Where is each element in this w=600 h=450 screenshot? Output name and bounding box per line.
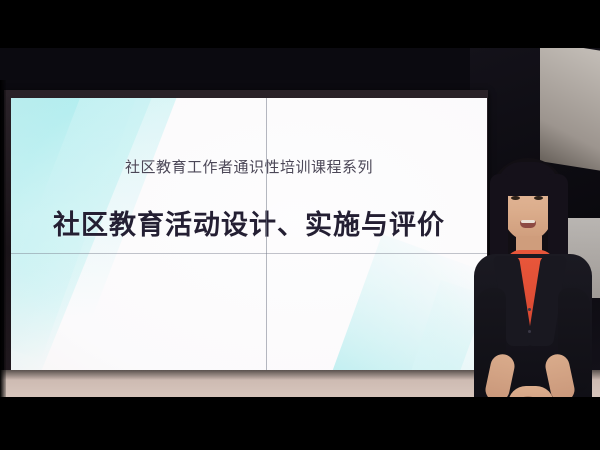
letterbox-top	[0, 0, 600, 48]
display-panel-seam-horizontal	[11, 253, 487, 254]
video-frame: 社区教育工作者通识性培训课程系列 社区教育活动设计、实施与评价	[0, 0, 600, 450]
back-wall-panel-upper	[540, 41, 600, 171]
presenter-jacket-button-upper	[528, 308, 531, 311]
letterbox-bottom	[0, 397, 600, 450]
presenter-eye-left	[511, 196, 520, 200]
presenter-eye-right	[534, 196, 543, 200]
display-panel-seam-vertical	[266, 98, 267, 398]
presenter-teeth	[521, 220, 535, 223]
slide-title: 社区教育活动设计、实施与评价	[53, 203, 445, 242]
slide-subtitle: 社区教育工作者通识性培训课程系列	[125, 156, 373, 177]
projection-screen-surface: 社区教育工作者通识性培训课程系列 社区教育活动设计、实施与评价	[11, 98, 487, 398]
projection-screen-bezel: 社区教育工作者通识性培训课程系列 社区教育活动设计、实施与评价	[4, 90, 488, 410]
studio-room: 社区教育工作者通识性培训课程系列 社区教育活动设计、实施与评价	[0, 40, 600, 405]
left-edge-shadow	[0, 80, 6, 445]
slide-text-block: 社区教育工作者通识性培训课程系列 社区教育活动设计、实施与评价	[11, 98, 487, 398]
presenter-jacket-button-lower	[528, 330, 531, 333]
